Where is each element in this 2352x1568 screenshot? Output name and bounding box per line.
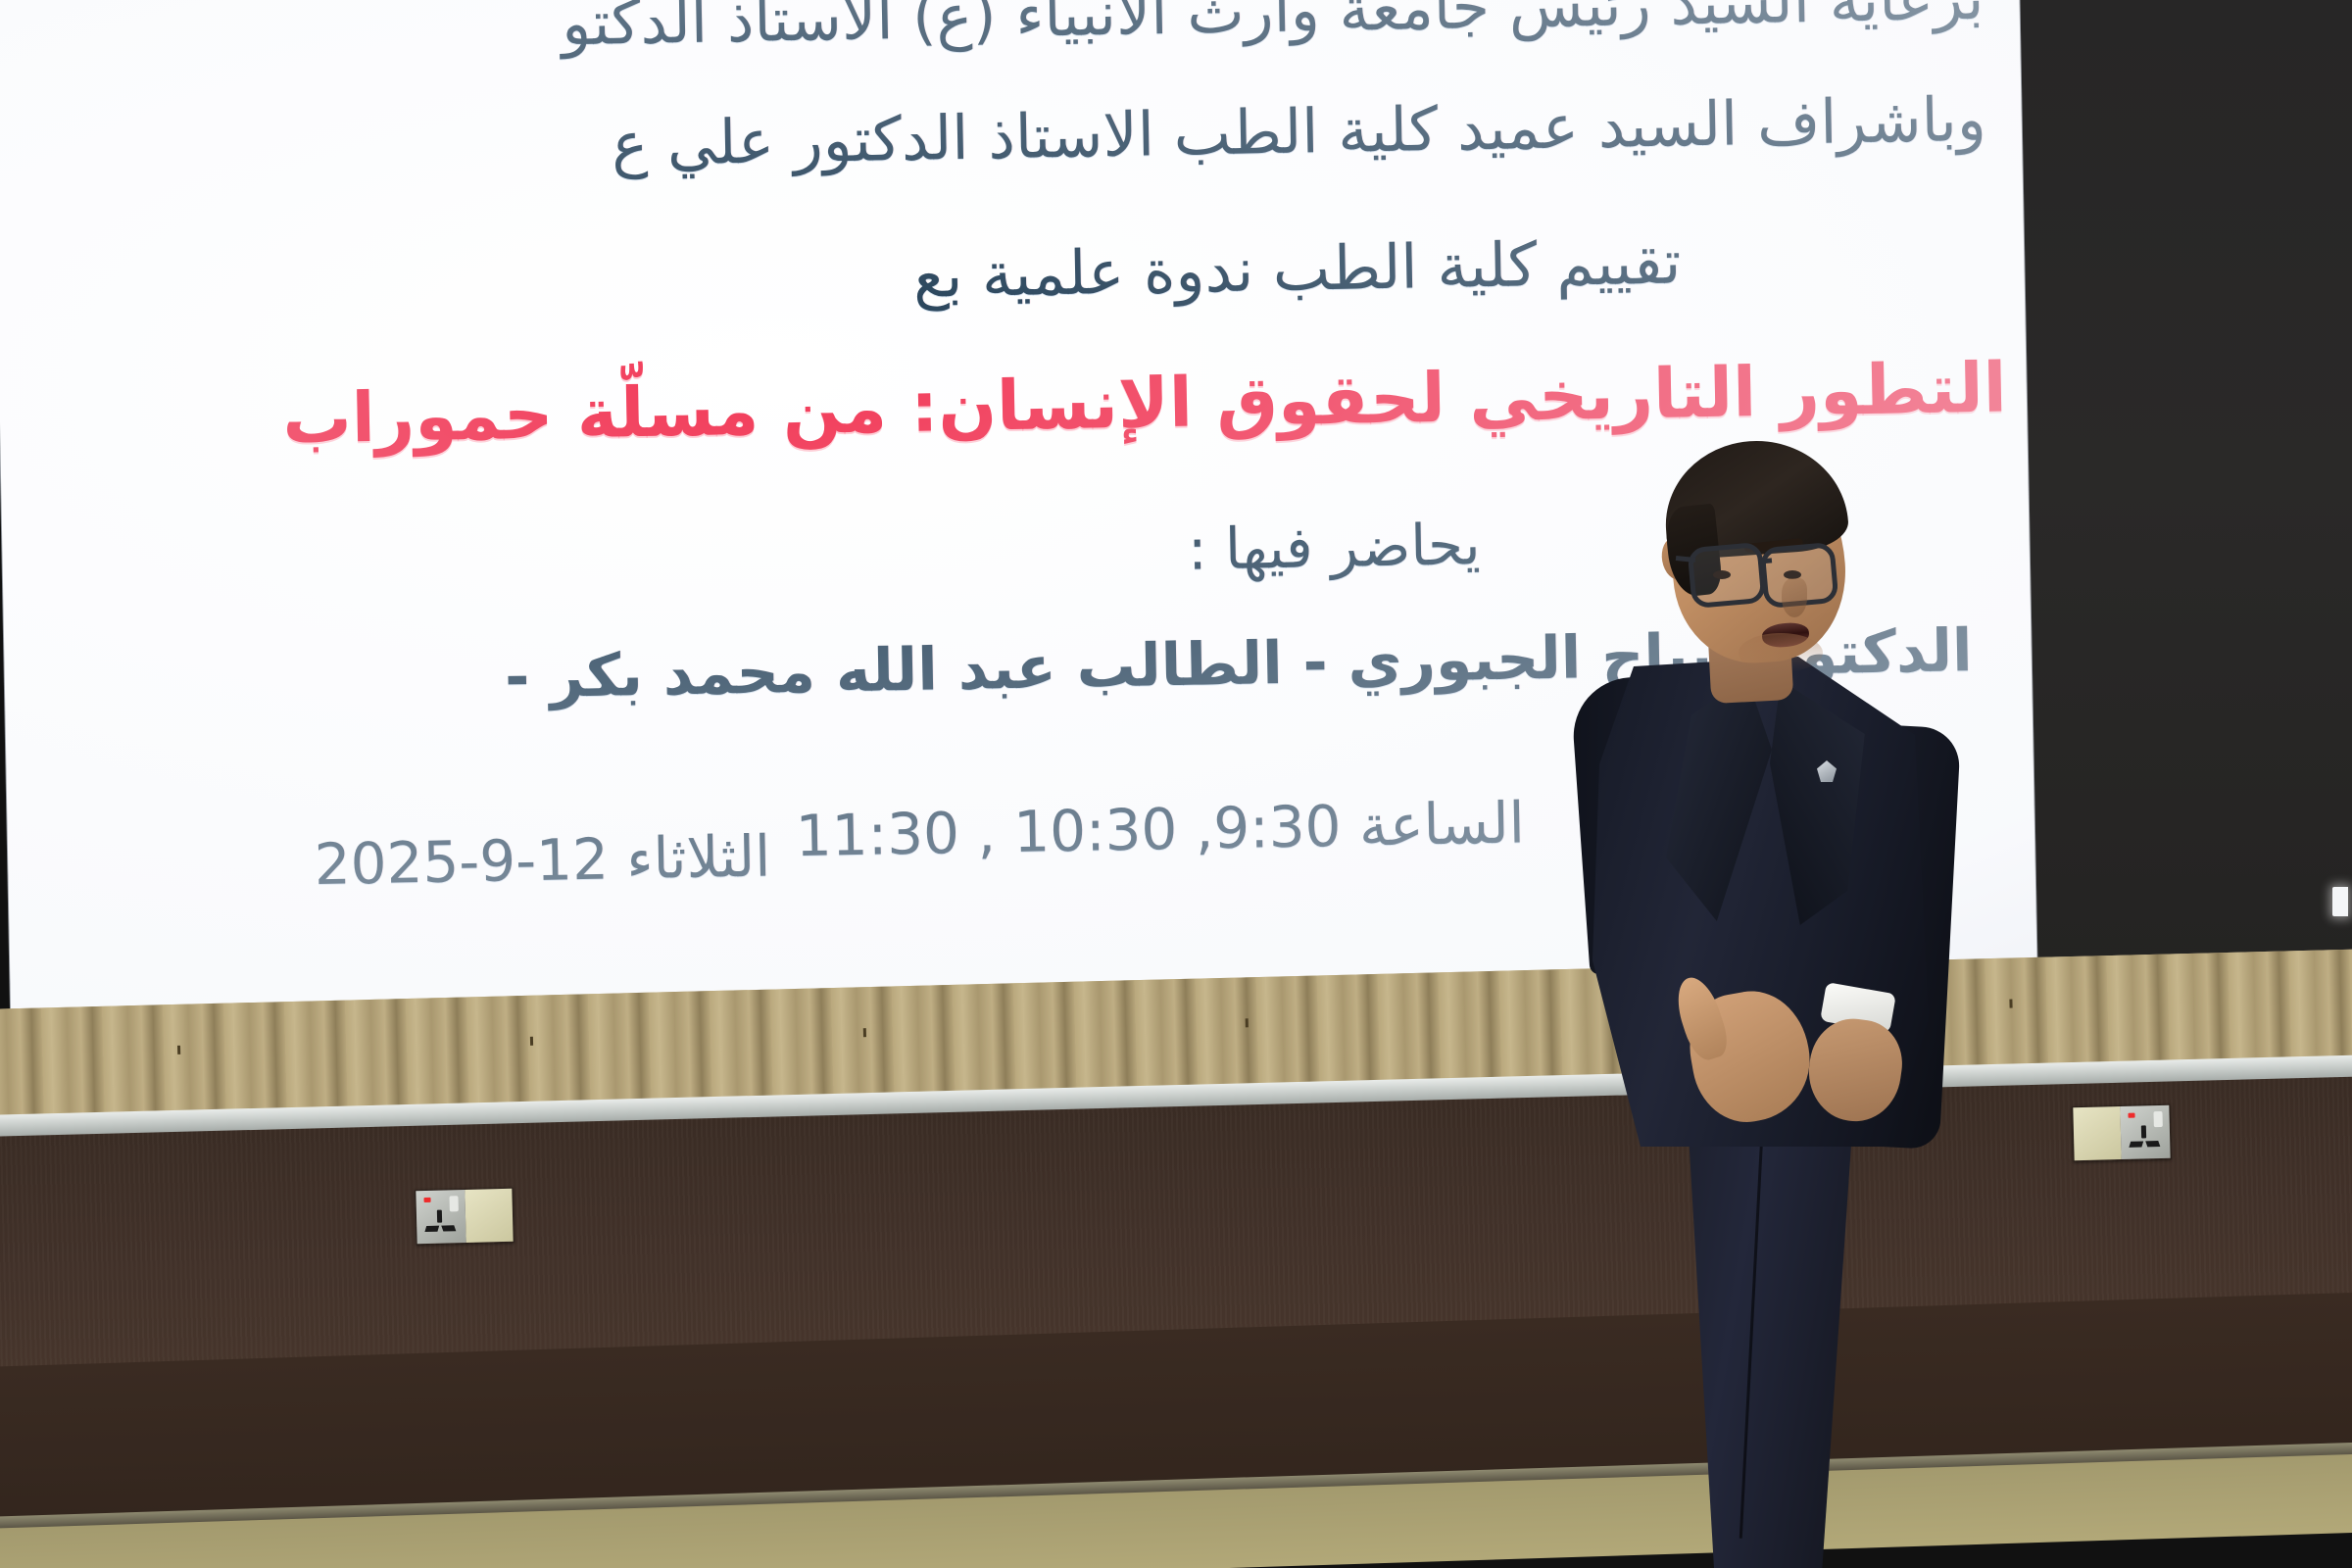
slide-line-patronage: برعاية السيد رئيس جامعة وارث الانبياء (ع… [561,0,1984,59]
blank-wall-plate [2073,1106,2121,1160]
wall-light-glint [2332,887,2348,916]
slide-line-date: الثلاثاء 12-9-2025 [314,823,771,899]
power-outlet-right[interactable] [2072,1104,2171,1162]
slide-line-time: الساعة 9:30, 10:30 , 11:30 [795,789,1525,869]
power-outlet-left[interactable] [415,1188,514,1246]
presenter-person [1499,431,2009,1568]
power-outlet-icon [2120,1105,2170,1159]
slide-line-speakers-label: يحاضر فيها : [1187,511,1481,582]
slide-line-supervision: وباشراف السيد عميد كلية الطب الاستاذ الد… [611,83,1986,180]
blank-wall-plate [465,1189,513,1243]
slide-line-organizer: تقييم كلية الطب ندوة علمية بع [912,225,1682,311]
presenter-chin [1739,633,1823,672]
eyeglasses-icon [1687,542,1766,609]
power-outlet-icon [416,1190,465,1244]
presenter-nose [1782,578,1807,617]
dark-brown-wall-right [1994,0,2352,1068]
lecture-photo-scene: برعاية السيد رئيس جامعة وارث الانبياء (ع… [0,0,2352,1568]
